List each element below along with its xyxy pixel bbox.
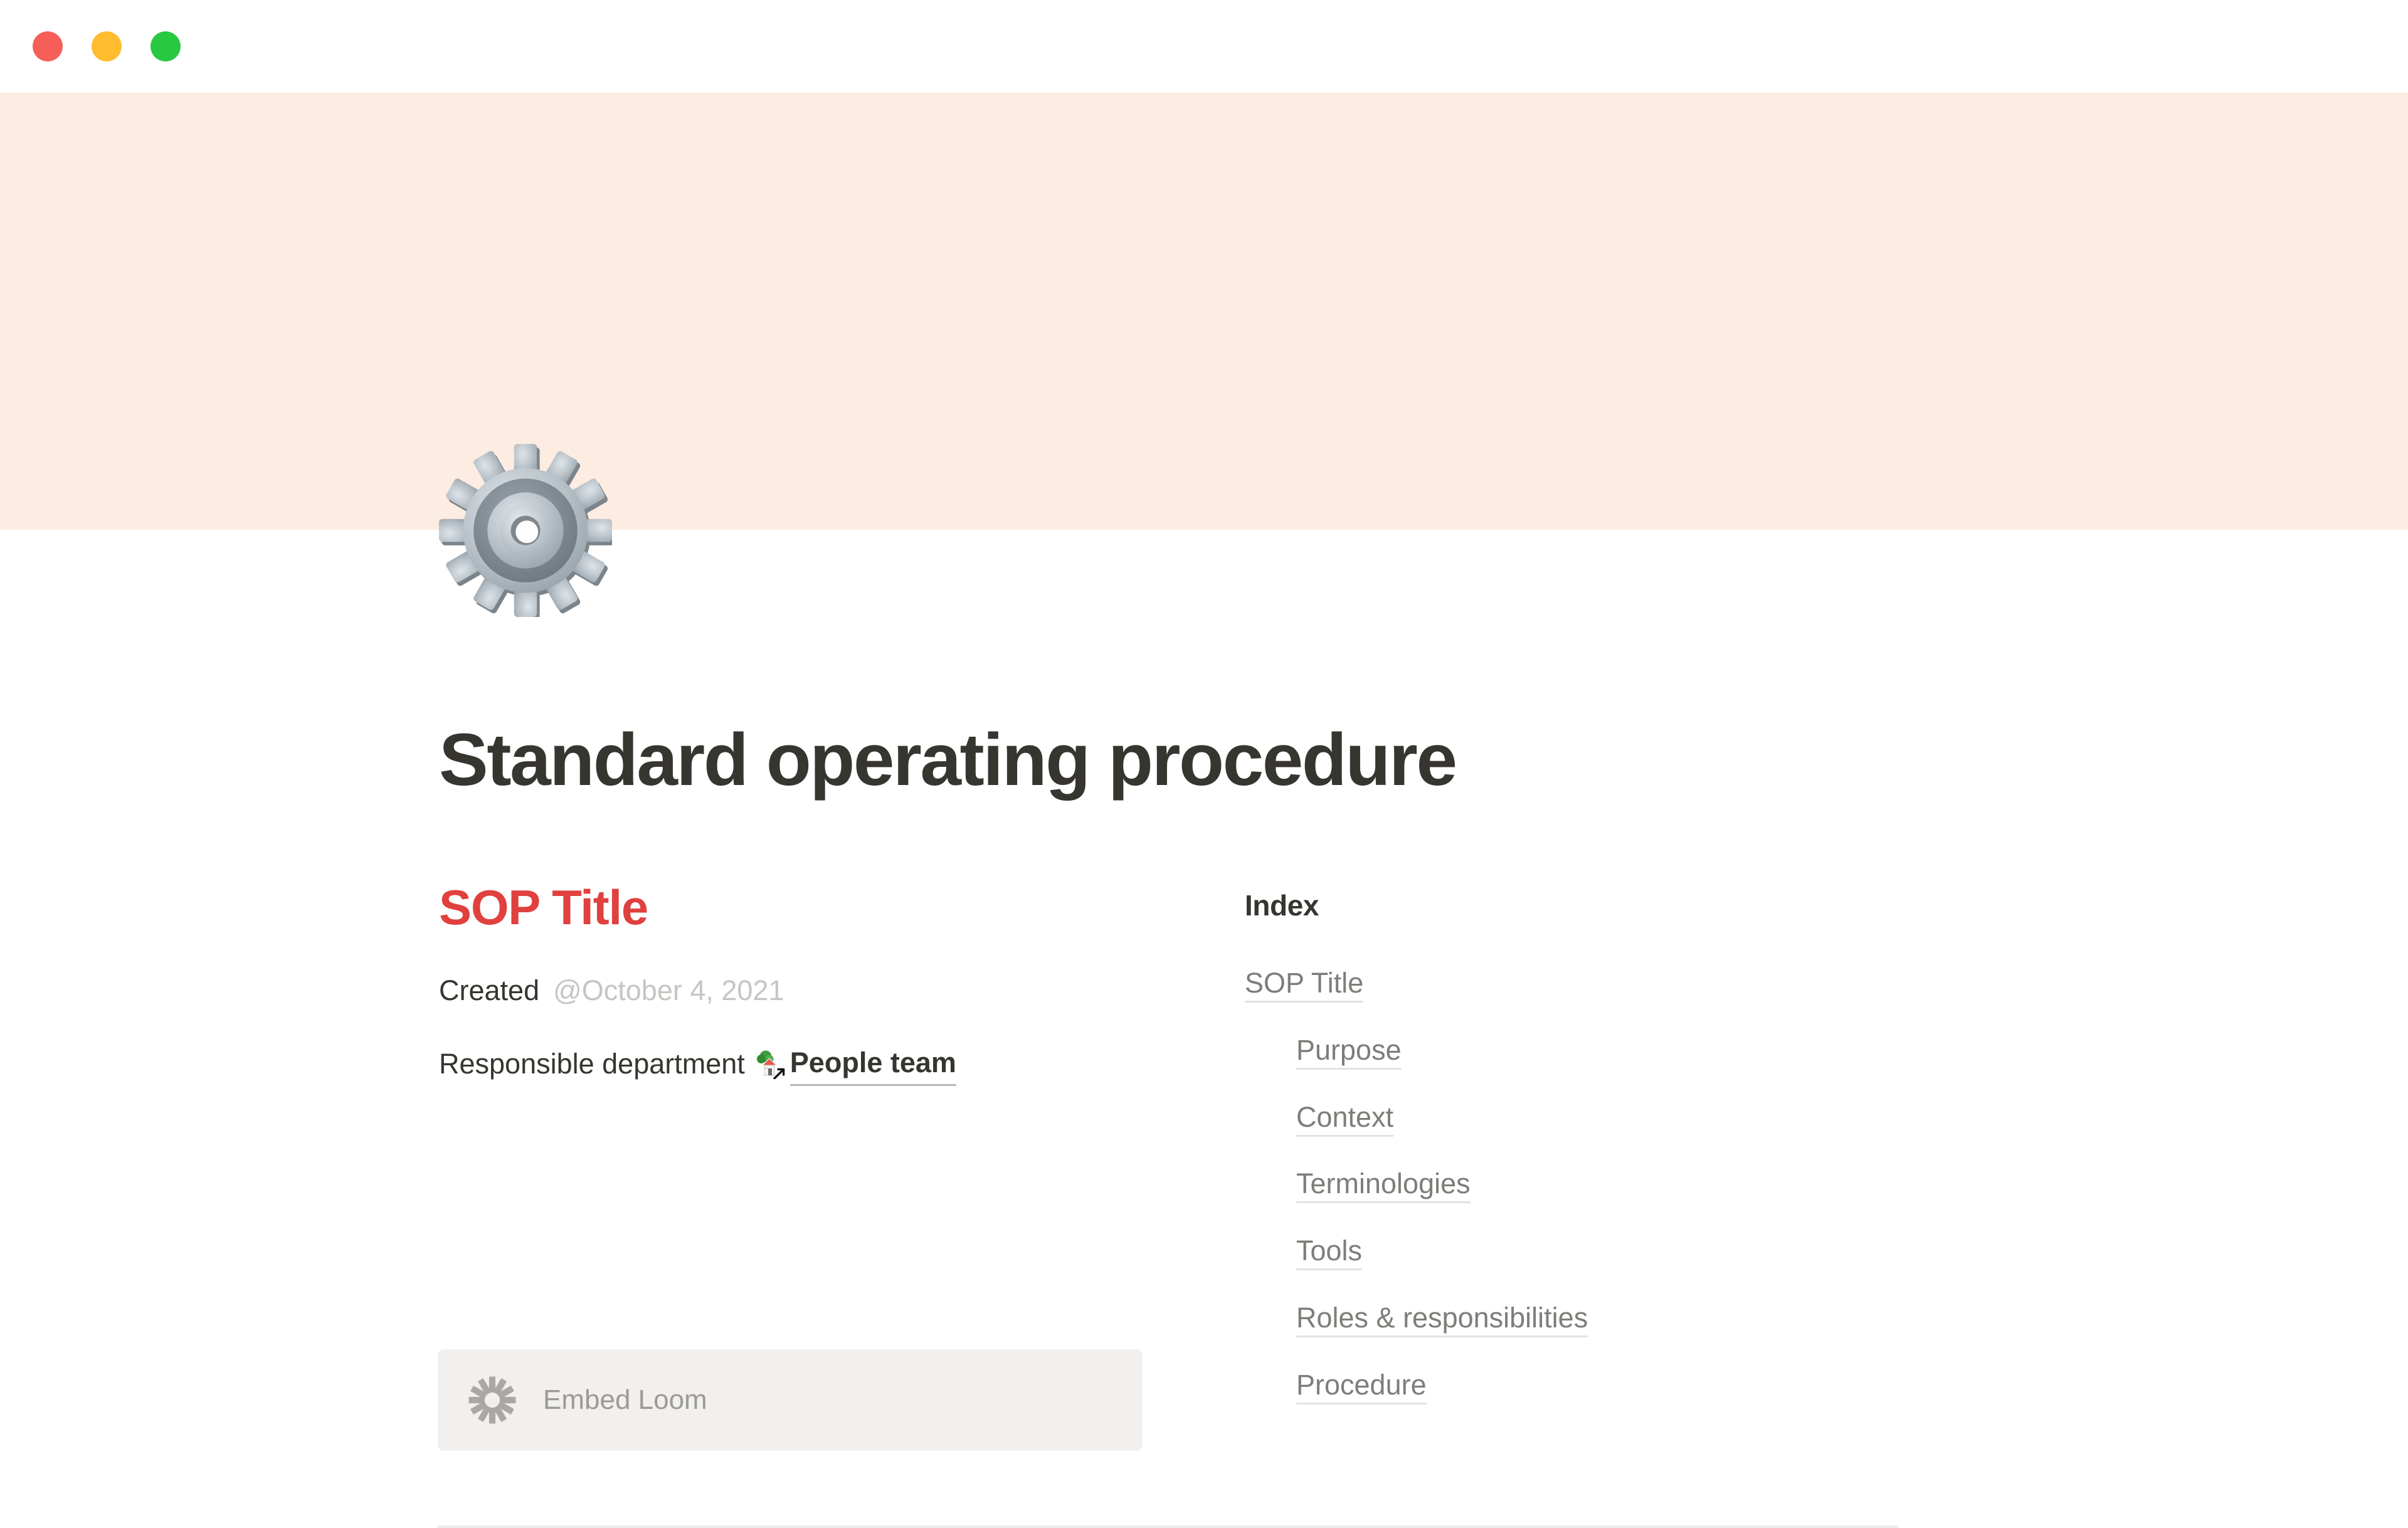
minimize-window-button[interactable] [92, 31, 122, 61]
index-link-roles-responsibilities[interactable]: Roles & responsibilities [1296, 1302, 1588, 1337]
index-link-procedure[interactable]: Procedure [1296, 1369, 1427, 1404]
people-team-link[interactable]: People team [790, 1042, 956, 1086]
index-item-sop-title: SOP Title [1245, 964, 1906, 1003]
loom-icon [468, 1376, 517, 1425]
index-heading: Index [1245, 888, 1906, 923]
index-item-tools: Tools [1245, 1232, 1906, 1270]
house-with-garden-icon [755, 1049, 788, 1079]
embed-loom-block[interactable]: Embed Loom [438, 1349, 1143, 1451]
right-column: Index SOP Title Purpose Context Terminol… [1245, 880, 1906, 1404]
traffic-light-group [33, 31, 181, 61]
page-title[interactable]: Standard operating procedure [439, 720, 1456, 801]
window-titlebar [0, 0, 2408, 93]
content-columns: SOP Title Created @October 4, 2021 Respo… [439, 880, 1906, 1404]
section-divider [438, 1525, 1898, 1528]
responsible-department-label: Responsible department [439, 1043, 745, 1084]
sop-title-heading[interactable]: SOP Title [439, 880, 1245, 936]
index-link-context[interactable]: Context [1296, 1101, 1393, 1137]
left-column: SOP Title Created @October 4, 2021 Respo… [439, 880, 1245, 1086]
index-item-terminologies: Terminologies [1245, 1165, 1906, 1203]
close-window-button[interactable] [33, 31, 63, 61]
index-item-purpose: Purpose [1245, 1031, 1906, 1070]
created-row: Created @October 4, 2021 [439, 970, 1245, 1011]
created-label: Created [439, 970, 539, 1011]
created-date-mention[interactable]: @October 4, 2021 [553, 970, 784, 1011]
index-item-procedure: Procedure [1245, 1366, 1906, 1404]
maximize-window-button[interactable] [150, 31, 181, 61]
index-item-roles-responsibilities: Roles & responsibilities [1245, 1299, 1906, 1337]
page-content: Standard operating procedure SOP Title C… [0, 93, 2408, 1505]
gear-icon[interactable] [439, 444, 612, 617]
responsible-department-row: Responsible department [439, 1042, 1245, 1086]
index-link-sop-title[interactable]: SOP Title [1245, 967, 1363, 1003]
index-link-purpose[interactable]: Purpose [1296, 1034, 1402, 1070]
index-link-terminologies[interactable]: Terminologies [1296, 1167, 1471, 1203]
embed-loom-label: Embed Loom [543, 1386, 707, 1414]
index-link-tools[interactable]: Tools [1296, 1235, 1362, 1270]
index-item-context: Context [1245, 1099, 1906, 1137]
index-list: SOP Title Purpose Context Terminologies … [1245, 964, 1906, 1404]
